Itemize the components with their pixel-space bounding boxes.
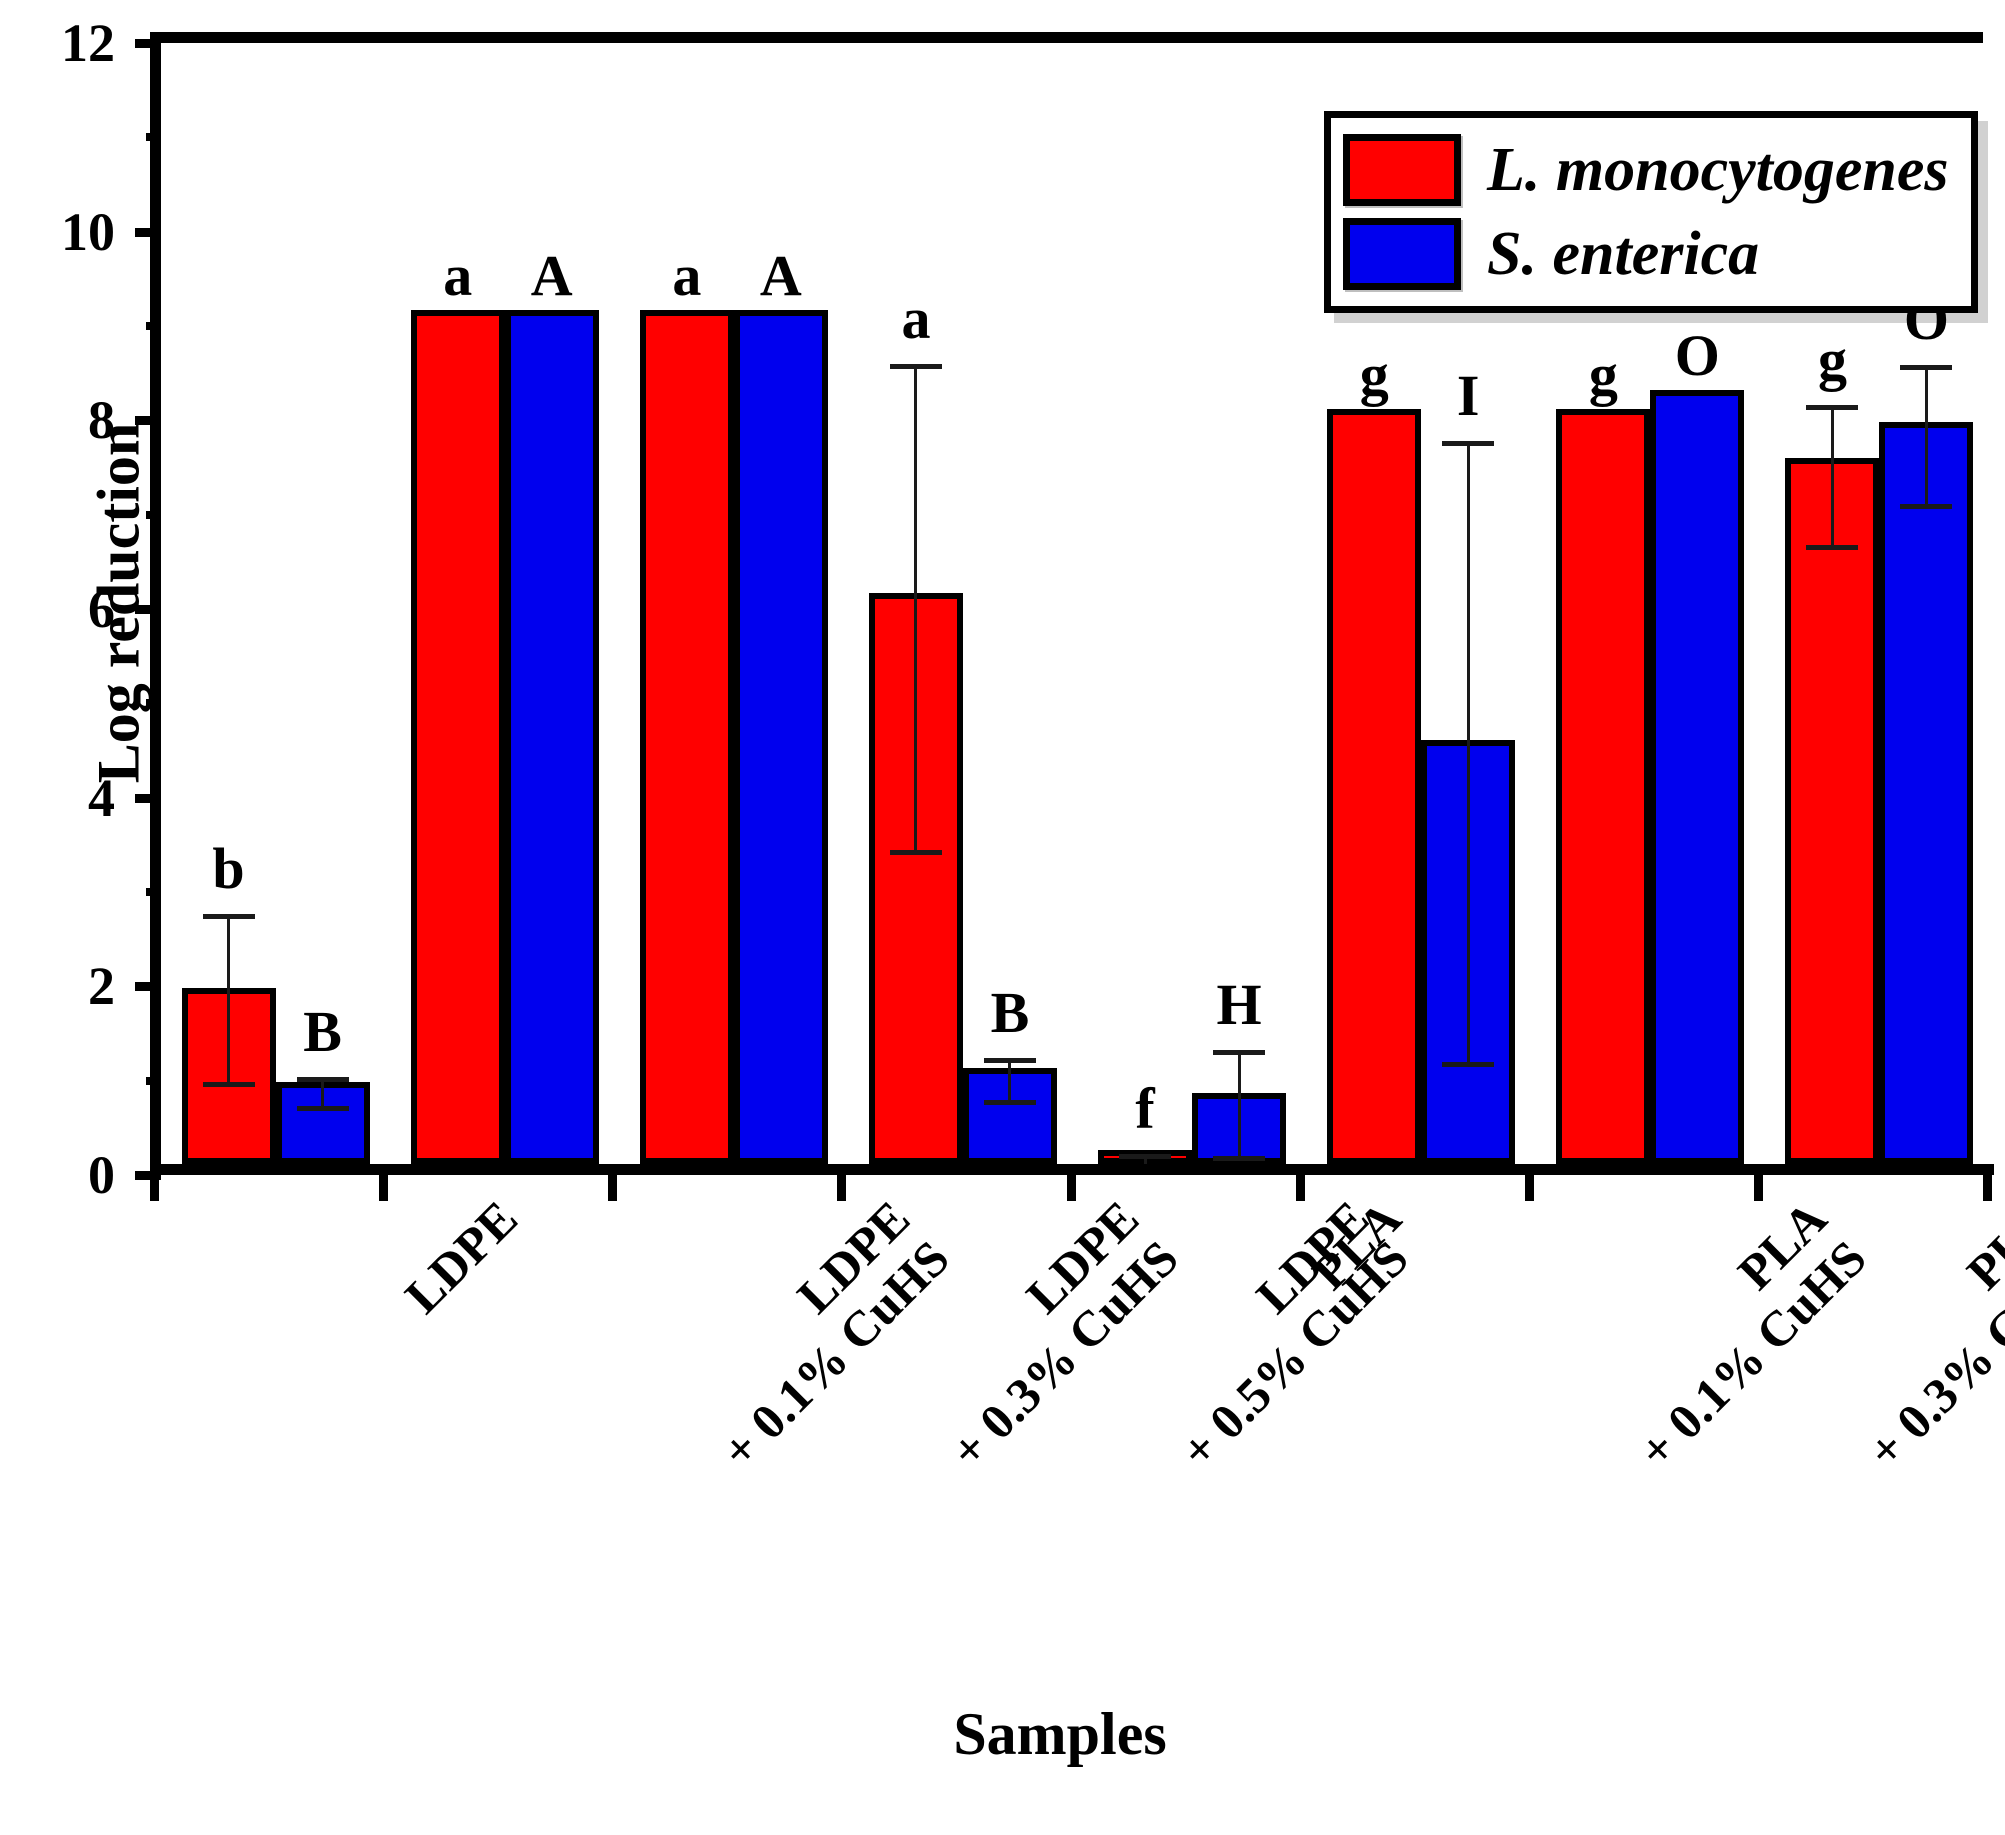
error-bar [1925, 365, 1928, 505]
y-tick-label: 2 [15, 959, 115, 1013]
significance-label: B [303, 1003, 342, 1061]
y-tick-minor [146, 1077, 161, 1085]
x-tick [379, 1175, 388, 1201]
error-bar-cap [1213, 1050, 1265, 1055]
plot-area: 024681012 Log reduction bBaAaAaBfHgIgOgO… [150, 32, 1983, 1164]
bar-blue-7 [1650, 390, 1744, 1164]
y-tick-major [135, 982, 161, 991]
error-bar-cap [1806, 545, 1858, 550]
x-tick [837, 1175, 846, 1201]
significance-label: b [212, 840, 244, 898]
significance-label: B [991, 984, 1030, 1042]
legend-item-s-enterica: S. enterica [1343, 212, 1949, 296]
x-category-label-3: LDPE+ 0.3% CuHS [900, 1190, 1189, 1479]
bar-red-2 [411, 310, 505, 1164]
significance-label: f [1135, 1080, 1154, 1138]
y-tick-minor [146, 322, 161, 330]
legend: L. monocytogenes S. enterica [1324, 111, 1978, 313]
error-bar [914, 364, 917, 850]
significance-label: A [760, 247, 802, 305]
significance-label: g [1818, 331, 1847, 389]
error-bar [1831, 405, 1834, 545]
error-bar-cap [890, 850, 942, 855]
bar-red-8 [1785, 458, 1879, 1164]
error-bar-cap [1442, 1062, 1494, 1067]
x-axis-line [150, 1164, 1994, 1175]
x-tick [1525, 1175, 1534, 1201]
x-tick [1296, 1175, 1305, 1201]
error-bar-cap [1442, 441, 1494, 446]
error-bar [1467, 441, 1470, 1062]
significance-label: O [1675, 327, 1720, 385]
error-bar-cap [1213, 1156, 1265, 1161]
y-tick-major [135, 39, 161, 48]
x-tick [608, 1175, 617, 1201]
significance-label: a [901, 290, 930, 348]
significance-label: g [1360, 346, 1389, 404]
legend-swatch-blue-icon [1343, 218, 1461, 290]
error-bar [227, 914, 230, 1082]
significance-label: A [531, 247, 573, 305]
significance-label: a [443, 247, 472, 305]
legend-swatch-red-icon [1343, 134, 1461, 206]
y-tick-major [135, 794, 161, 803]
error-bar-cap [984, 1100, 1036, 1105]
x-category-label-1: LDPE [394, 1190, 528, 1324]
significance-label: I [1457, 367, 1480, 425]
error-bar [1008, 1058, 1011, 1100]
error-bar-cap [1806, 405, 1858, 410]
bar-blue-3 [734, 310, 828, 1164]
bar-red-3 [640, 310, 734, 1164]
y-tick-label: 0 [15, 1148, 115, 1202]
y-tick-minor [146, 133, 161, 141]
bar-red-6 [1327, 409, 1421, 1164]
x-tick [1754, 1175, 1763, 1201]
x-category-label-7: PLA+ 0.3% CuHS [1817, 1190, 2005, 1479]
x-category-label-6: PLA+ 0.1% CuHS [1588, 1190, 1877, 1479]
error-bar-cap [203, 1082, 255, 1087]
legend-label-s-enterica: S. enterica [1487, 219, 1759, 290]
error-bar [1238, 1050, 1241, 1157]
error-bar-cap [1900, 365, 1952, 370]
y-tick-label: 10 [15, 205, 115, 259]
y-tick-major [135, 228, 161, 237]
y-tick-label: 12 [15, 16, 115, 70]
y-axis-title: Log reduction [85, 423, 154, 784]
error-bar-cap [203, 914, 255, 919]
error-bar-cap [890, 364, 942, 369]
error-bar-cap [1900, 504, 1952, 509]
legend-item-l-monocytogenes: L. monocytogenes [1343, 128, 1949, 212]
bar-blue-2 [505, 310, 599, 1164]
x-category-line1: LDPE [394, 1190, 528, 1324]
error-bar-cap [297, 1077, 349, 1082]
x-axis-title: Samples [953, 1700, 1166, 1769]
bar-red-7 [1556, 409, 1650, 1164]
x-tick [1983, 1175, 1992, 1201]
error-bar-cap [1119, 1154, 1171, 1159]
x-tick [1067, 1175, 1076, 1201]
legend-label-l-monocytogenes: L. monocytogenes [1487, 135, 1949, 206]
bar-chart-figure: 024681012 Log reduction bBaAaAaBfHgIgOgO… [0, 0, 2005, 1835]
significance-label: a [672, 247, 701, 305]
error-bar-cap [297, 1106, 349, 1111]
bar-blue-8 [1879, 422, 1973, 1164]
y-tick-minor [146, 888, 161, 896]
x-tick [150, 1175, 159, 1201]
error-bar-cap [984, 1058, 1036, 1063]
x-category-label-2: LDPE+ 0.1% CuHS [671, 1190, 960, 1479]
significance-label: g [1589, 346, 1618, 404]
significance-label: H [1217, 976, 1262, 1034]
